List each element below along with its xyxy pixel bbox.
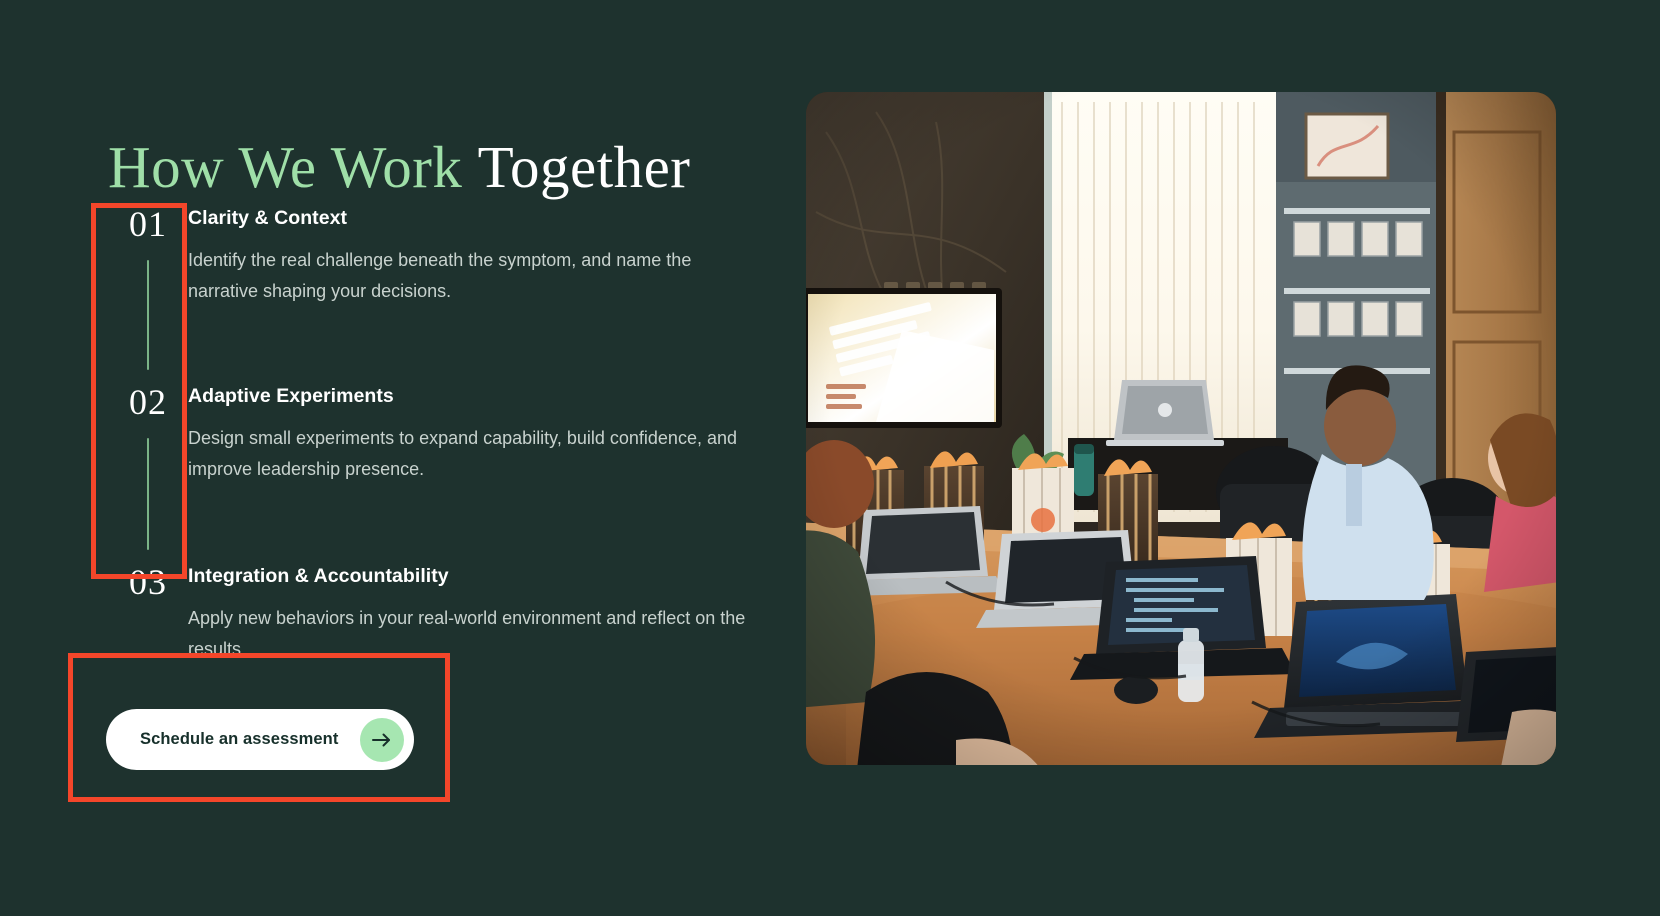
cta-container: Schedule an assessment xyxy=(106,709,414,770)
process-step-row: 03 Integration & Accountability Apply ne… xyxy=(0,564,800,665)
step-number-cell: 01 xyxy=(108,206,188,370)
process-step-row: 02 Adaptive Experiments Design small exp… xyxy=(0,384,800,550)
step-body: Adaptive Experiments Design small experi… xyxy=(188,384,768,485)
page-title: How We Work Together xyxy=(108,137,690,199)
page-title-space xyxy=(462,134,477,200)
step-title: Clarity & Context xyxy=(188,207,768,230)
meeting-room-photo xyxy=(806,92,1556,765)
process-steps-list: 01 Clarity & Context Identify the real c… xyxy=(0,206,800,665)
step-number-cell: 02 xyxy=(108,384,188,550)
step-description: Apply new behaviors in your real-world e… xyxy=(188,603,753,665)
process-step-03: 03 Integration & Accountability Apply ne… xyxy=(0,564,800,665)
step-number-cell: 03 xyxy=(108,564,188,618)
schedule-assessment-label: Schedule an assessment xyxy=(140,730,338,749)
step-number: 01 xyxy=(129,206,167,242)
step-title: Adaptive Experiments xyxy=(188,385,768,408)
process-step-02: 02 Adaptive Experiments Design small exp… xyxy=(0,384,800,550)
left-content-column: How We Work Together 01 Clarity & Contex… xyxy=(0,0,800,916)
step-number: 02 xyxy=(129,384,167,420)
step-body: Clarity & Context Identify the real chal… xyxy=(188,206,768,307)
step-body: Integration & Accountability Apply new b… xyxy=(188,564,768,665)
process-step-row: 01 Clarity & Context Identify the real c… xyxy=(0,206,800,370)
schedule-assessment-button[interactable]: Schedule an assessment xyxy=(106,709,414,770)
page-title-plain: Together xyxy=(478,134,691,200)
step-description: Identify the real challenge beneath the … xyxy=(188,245,753,307)
process-step-01: 01 Clarity & Context Identify the real c… xyxy=(0,206,800,370)
step-description: Design small experiments to expand capab… xyxy=(188,423,753,485)
arrow-right-icon xyxy=(360,718,404,762)
page-title-highlight: How We Work xyxy=(108,134,462,200)
step-number: 03 xyxy=(129,564,167,600)
step-connector-line xyxy=(147,438,149,550)
page-root: How We Work Together 01 Clarity & Contex… xyxy=(0,0,1660,916)
step-title: Integration & Accountability xyxy=(188,565,768,588)
step-connector-line xyxy=(147,260,149,370)
